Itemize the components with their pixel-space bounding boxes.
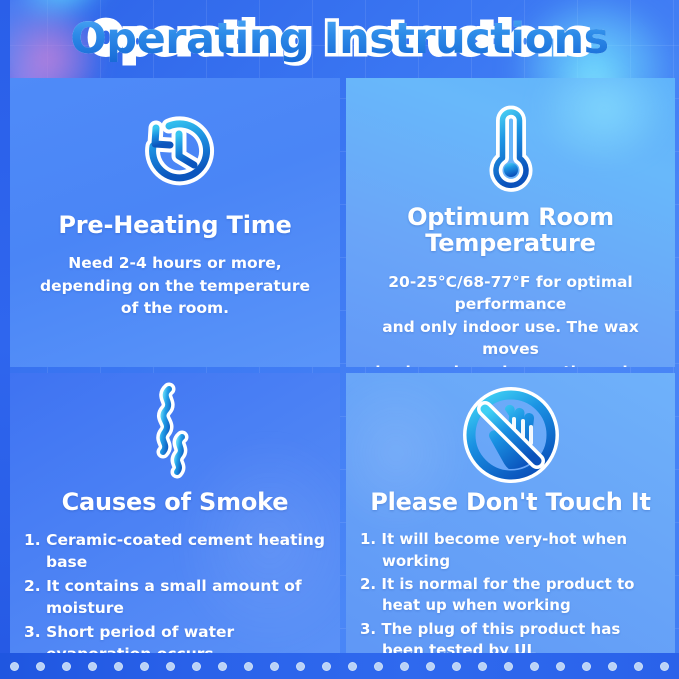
strip-dot xyxy=(244,662,253,671)
panel-list: 1. It will become very-hot when working … xyxy=(346,529,675,659)
instruction-infographic: Operating Instructions Operating Instruc… xyxy=(0,0,679,679)
strip-dot xyxy=(478,662,487,671)
panel-heading: Please Don't Touch It xyxy=(370,489,651,515)
panel-grid: Pre-Heating Time Need 2-4 hours or more,… xyxy=(10,78,669,653)
panel-list: 1. Ceramic-coated cement heating base 2.… xyxy=(10,529,340,659)
strip-dot xyxy=(530,662,539,671)
strip-dot xyxy=(218,662,227,671)
panel-body: 20-25°C/68-77°F for optimal performance … xyxy=(346,271,675,367)
strip-dot xyxy=(504,662,513,671)
panel-optimum-room-temperature: Optimum Room Temperature 20-25°C/68-77°F… xyxy=(346,78,675,367)
strip-dot xyxy=(270,662,279,671)
panel-heading: Optimum Room Temperature xyxy=(346,204,675,257)
strip-dot xyxy=(608,662,617,671)
strip-dot xyxy=(322,662,331,671)
thermometer-icon xyxy=(480,100,542,200)
page-title-text: Operating Instructions xyxy=(70,14,609,64)
body-line: and only indoor use. The wax moves xyxy=(360,316,661,361)
strip-dot xyxy=(556,662,565,671)
strip-dot xyxy=(88,662,97,671)
strip-dot xyxy=(36,662,45,671)
strip-dot xyxy=(348,662,357,671)
strip-dot xyxy=(10,662,19,671)
strip-dot xyxy=(582,662,591,671)
page-title: Operating Instructions Operating Instruc… xyxy=(0,8,679,70)
strip-dot xyxy=(62,662,71,671)
strip-dot xyxy=(140,662,149,671)
strip-dot xyxy=(452,662,461,671)
list-item: 2. It contains a small amount of moistur… xyxy=(24,575,332,619)
panel-heading: Causes of Smoke xyxy=(62,489,289,515)
list-item: 1. Ceramic-coated cement heating base xyxy=(24,529,332,573)
strip-dot xyxy=(296,662,305,671)
body-line: of the room. xyxy=(40,297,310,319)
panel-heading: Pre-Heating Time xyxy=(58,212,291,238)
body-line: slowly and need more time when xyxy=(360,361,661,367)
left-rail xyxy=(0,0,10,679)
strip-dot xyxy=(166,662,175,671)
panel-causes-of-smoke: Causes of Smoke 1. Ceramic-coated cement… xyxy=(10,373,340,659)
strip-dot xyxy=(114,662,123,671)
strip-dot xyxy=(634,662,643,671)
list-item: 1. It will become very-hot when working xyxy=(360,529,667,572)
strip-dot xyxy=(400,662,409,671)
list-item: 2. It is normal for the product to heat … xyxy=(360,574,667,617)
panel-please-dont-touch-it: Please Don't Touch It 1. It will become … xyxy=(346,373,675,659)
body-line: Need 2-4 hours or more, xyxy=(40,252,310,274)
strip-dot xyxy=(192,662,201,671)
bottom-dot-strip xyxy=(0,653,679,679)
panel-pre-heating-time: Pre-Heating Time Need 2-4 hours or more,… xyxy=(10,78,340,367)
panel-body: Need 2-4 hours or more, depending on the… xyxy=(26,252,324,319)
body-line: 20-25°C/68-77°F for optimal performance xyxy=(360,271,661,316)
body-line: depending on the temperature xyxy=(40,275,310,297)
clock-rotate-left-icon xyxy=(123,100,227,208)
strip-dot xyxy=(660,662,669,671)
strip-dot xyxy=(374,662,383,671)
smoke-icon xyxy=(135,385,215,485)
strip-dot xyxy=(426,662,435,671)
no-touch-hand-icon xyxy=(459,385,563,485)
